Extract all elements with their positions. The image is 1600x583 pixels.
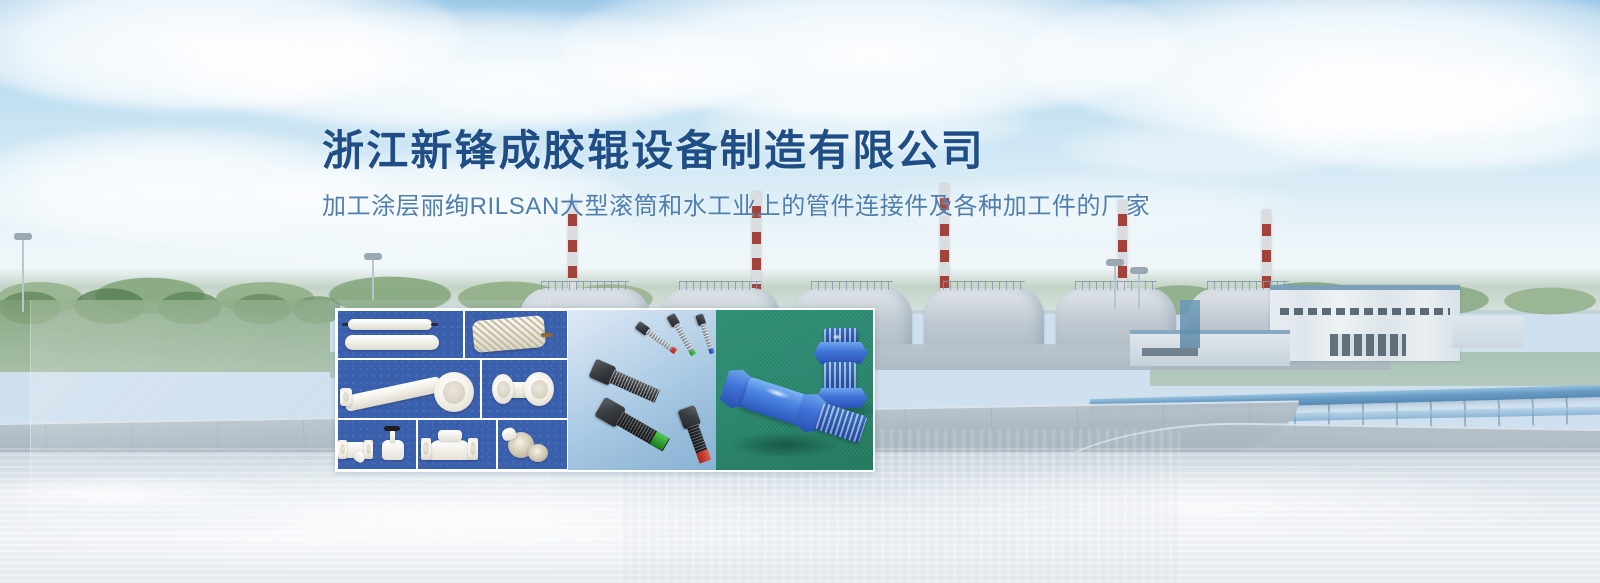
collage-panel-blue-bolts[interactable]: [716, 310, 873, 470]
annex-building: [1130, 330, 1290, 366]
building-window-band: [1330, 334, 1406, 356]
cloud-shape: [420, 60, 720, 118]
company-headline: 浙江新锋成胶辊设备制造有限公司: [322, 128, 1322, 173]
collage-panel-white-parts[interactable]: [337, 310, 568, 470]
product-collage[interactable]: [335, 308, 875, 472]
hero-banner: 浙江新锋成胶辊设备制造有限公司 加工涂层丽绚RILSAN大型滚筒和水工业上的管件…: [0, 0, 1600, 583]
collage-cell-valve-discs[interactable]: [498, 420, 567, 469]
steel-bolt-large: [663, 405, 714, 469]
collage-cell-check-valve[interactable]: [418, 420, 496, 469]
collage-cell-rubber-roller-pair[interactable]: [338, 311, 463, 358]
collage-cell-flanged-pipe-spool[interactable]: [338, 360, 480, 417]
treatment-plant-building: [1270, 285, 1460, 361]
storage-tank: [924, 288, 1044, 350]
light-pole: [372, 258, 374, 300]
banner-text-block: 浙江新锋成胶辊设备制造有限公司 加工涂层丽绚RILSAN大型滚筒和水工业上的管件…: [322, 128, 1322, 222]
company-subheadline: 加工涂层丽绚RILSAN大型滚筒和水工业上的管件连接件及各种加工件的厂家: [322, 193, 1322, 222]
light-pole: [22, 238, 24, 312]
collage-cell-strainer-gate-valve[interactable]: [338, 420, 416, 469]
light-pole: [1138, 272, 1140, 310]
collage-cell-perforated-roller-core[interactable]: [465, 311, 567, 358]
collage-panel-steel-bolts[interactable]: [568, 310, 715, 470]
blue-silo-tower: [1180, 300, 1200, 348]
light-pole: [1114, 264, 1116, 310]
collage-cell-flanged-bushing[interactable]: [482, 360, 567, 417]
far-building: [1452, 316, 1524, 348]
